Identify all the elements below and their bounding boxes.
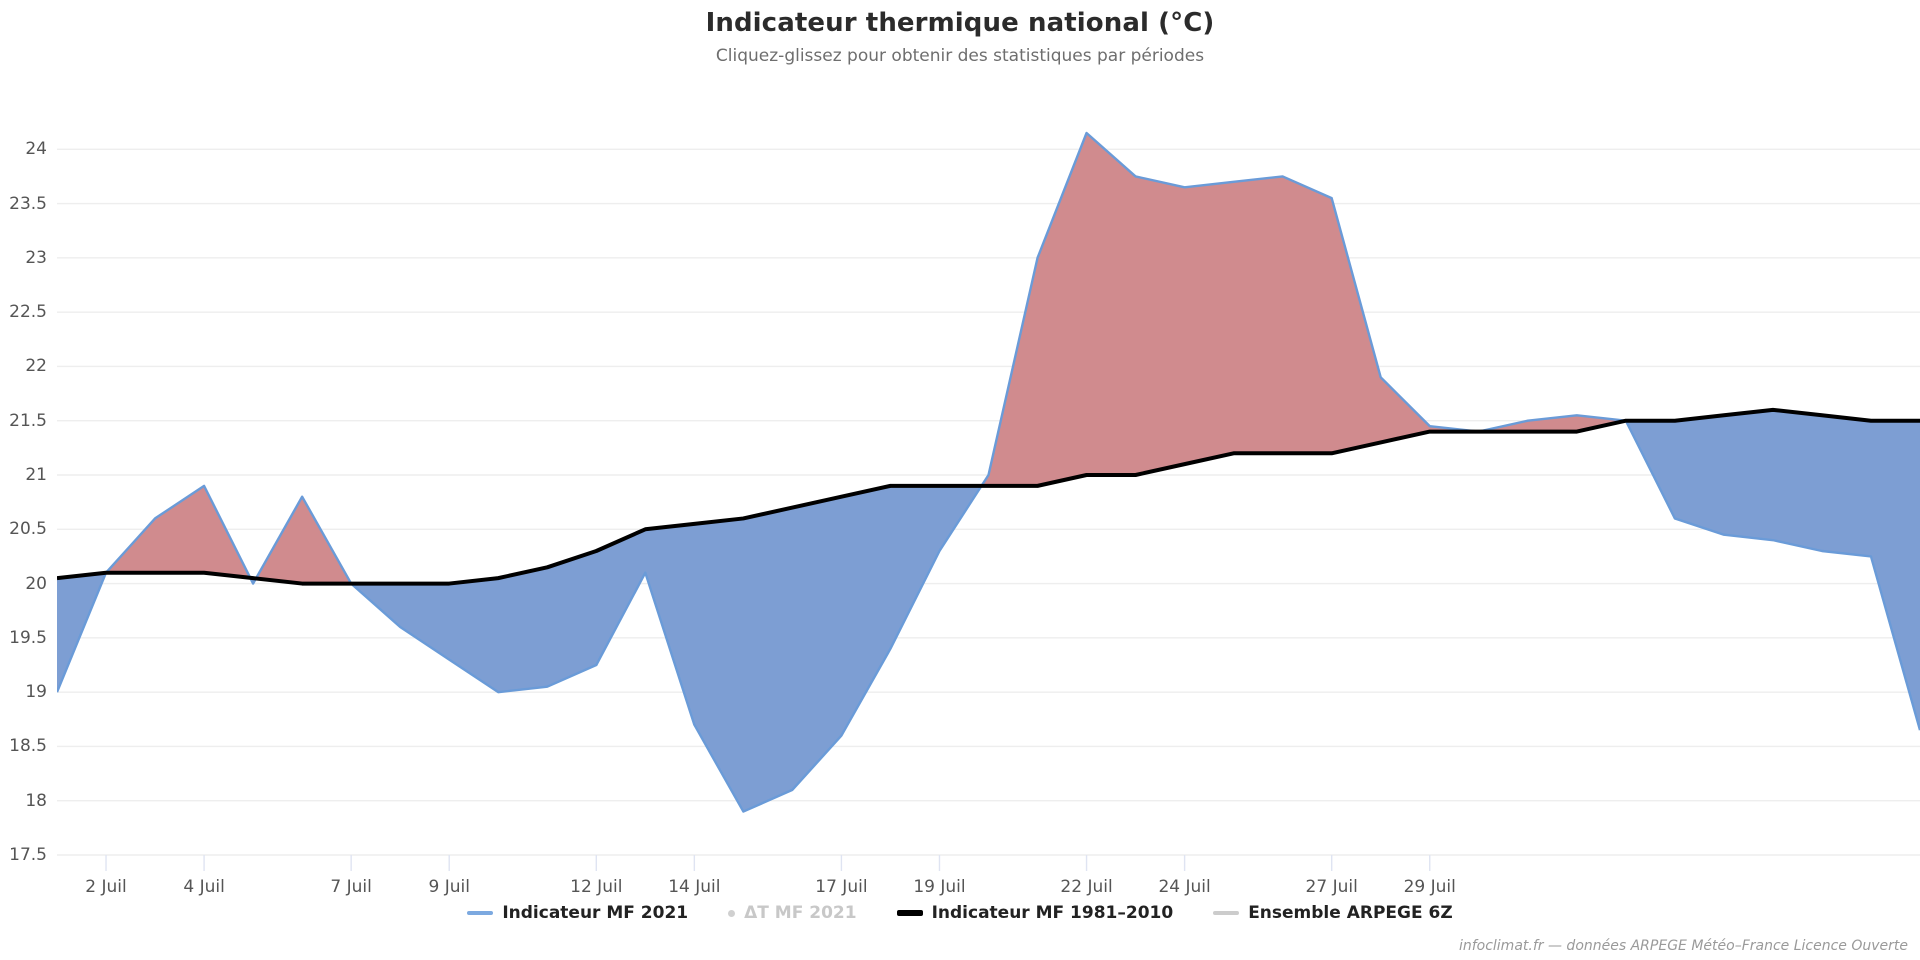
- y-tick-label: 17.5: [0, 845, 47, 865]
- x-tick-label: 9 Juil: [428, 877, 469, 897]
- y-tick-label: 20: [0, 574, 47, 594]
- legend-item-ensemble-arpege-6z[interactable]: Ensemble ARPEGE 6Z: [1213, 903, 1452, 923]
- chart-container: Indicateur thermique national (°C) Cliqu…: [0, 0, 1920, 960]
- x-tick-label: 12 Juil: [570, 877, 622, 897]
- y-tick-label: 23: [0, 248, 47, 268]
- x-tick-label: 2 Juil: [85, 877, 126, 897]
- footer-credit: infoclimat.fr — données ARPEGE Météo–Fra…: [1459, 938, 1908, 954]
- x-tick-label: 24 Juil: [1158, 877, 1210, 897]
- x-tick-label: 4 Juil: [183, 877, 224, 897]
- x-tick-label: 22 Juil: [1060, 877, 1112, 897]
- y-tick-label: 24: [0, 139, 47, 159]
- series-line-indicateur-mf-2021: [57, 133, 1920, 812]
- legend-label: Indicateur MF 1981–2010: [932, 903, 1174, 923]
- legend-swatch-line-icon: [467, 911, 493, 915]
- x-tick-label: 19 Juil: [913, 877, 965, 897]
- x-tick-label: 7 Juil: [330, 877, 371, 897]
- legend-swatch-line-icon: [897, 910, 923, 916]
- legend-label: Ensemble ARPEGE 6Z: [1248, 903, 1452, 923]
- gridlines: [57, 149, 1920, 855]
- legend-label: Indicateur MF 2021: [502, 903, 688, 923]
- legend-label: ΔT MF 2021: [744, 903, 856, 923]
- legend-item-delta-t-mf-2021[interactable]: ΔT MF 2021: [728, 903, 856, 923]
- y-tick-label: 23.5: [0, 194, 47, 214]
- y-tick-label: 20.5: [0, 519, 47, 539]
- x-tick-label: 29 Juil: [1404, 877, 1456, 897]
- x-tick-label: 17 Juil: [815, 877, 867, 897]
- x-axis-ticks: [106, 855, 1430, 871]
- x-tick-label: 27 Juil: [1306, 877, 1358, 897]
- y-tick-label: 19: [0, 682, 47, 702]
- y-tick-label: 19.5: [0, 628, 47, 648]
- chart-plot-area[interactable]: [0, 0, 1920, 960]
- x-tick-label: 14 Juil: [668, 877, 720, 897]
- y-tick-label: 22.5: [0, 302, 47, 322]
- y-tick-label: 21: [0, 465, 47, 485]
- y-tick-label: 21.5: [0, 411, 47, 431]
- legend-item-indicateur-mf-1981-2010[interactable]: Indicateur MF 1981–2010: [897, 903, 1174, 923]
- legend-swatch-dot-icon: [728, 910, 735, 917]
- y-tick-label: 18.5: [0, 736, 47, 756]
- y-tick-label: 18: [0, 791, 47, 811]
- legend-swatch-line-icon: [1213, 911, 1239, 915]
- y-tick-label: 22: [0, 356, 47, 376]
- chart-legend: Indicateur MF 2021 ΔT MF 2021 Indicateur…: [0, 903, 1920, 923]
- legend-item-indicateur-mf-2021[interactable]: Indicateur MF 2021: [467, 903, 688, 923]
